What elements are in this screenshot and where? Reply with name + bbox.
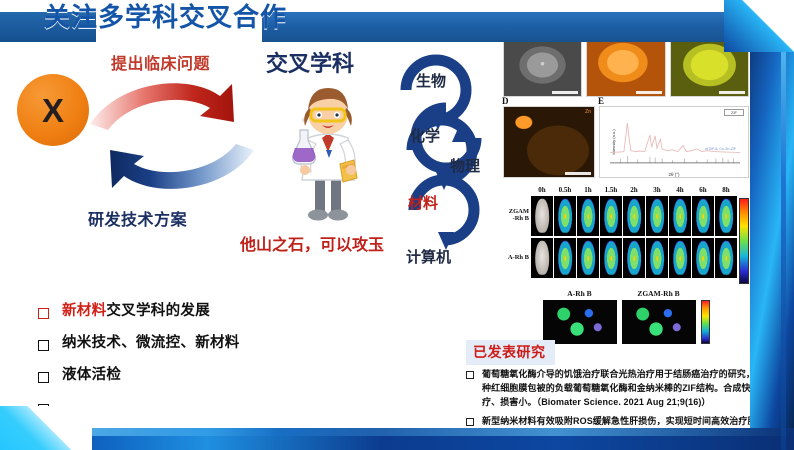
mouse-image bbox=[715, 238, 737, 278]
xrd-annotation: of ZIF-8, Cu-Zn-ZIF bbox=[705, 147, 736, 151]
mouse-image bbox=[577, 238, 599, 278]
organ-image bbox=[622, 300, 696, 344]
timepoint-label: 0h bbox=[531, 186, 553, 194]
mouse-image bbox=[692, 238, 714, 278]
xrd-chart: Intensity (a.u.) ZIF bbox=[599, 106, 749, 178]
bullet-text: 交叉学科的发展 bbox=[106, 303, 210, 319]
cross-discipline-heading: 交叉学科 bbox=[266, 46, 354, 78]
xrd-xlabel: 2θ (°) bbox=[600, 172, 748, 177]
mouse-image bbox=[669, 196, 691, 236]
mouse-image bbox=[623, 238, 645, 278]
arrow-label-clinical-question: 提出临床问题 bbox=[111, 50, 210, 74]
mouse-image bbox=[531, 238, 553, 278]
top-right-corner-decoration bbox=[724, 0, 794, 52]
sem-panel-row: A B C bbox=[503, 33, 749, 97]
bullet-square-icon bbox=[466, 371, 474, 379]
timepoint-label: 8h bbox=[715, 186, 737, 194]
timepoint-label: 1h bbox=[577, 186, 599, 194]
mouse-image bbox=[715, 196, 737, 236]
arrow-label-tech-solution: 研发技术方案 bbox=[88, 206, 187, 230]
timepoint-label: 3h bbox=[646, 186, 668, 194]
timepoint-label: 1.5h bbox=[600, 186, 622, 194]
list-item: 纳米技术、微流控、新材料 bbox=[38, 336, 240, 351]
panel-label-e: E bbox=[598, 96, 604, 106]
bullet-square-icon bbox=[466, 418, 474, 426]
bottom-left-corner-decoration bbox=[0, 406, 92, 450]
figure-panel-d: D Zn bbox=[503, 106, 595, 178]
scale-bar bbox=[636, 91, 662, 94]
scale-bar bbox=[552, 91, 578, 94]
exvivo-panel-a: A-Rh B bbox=[543, 289, 617, 344]
chain-node-physics: 物理 bbox=[450, 155, 480, 176]
mouse-image bbox=[600, 238, 622, 278]
invivo-imaging-figure: 0h 0.5h 1h 1.5h 2h 3h 4h 6h 8h ZGAM -Rh … bbox=[503, 186, 749, 284]
chain-node-chemistry: 化学 bbox=[410, 125, 440, 146]
timepoint-row: 0h 0.5h 1h 1.5h 2h 3h 4h 6h 8h bbox=[531, 186, 737, 194]
page-title: 关注多学科交叉合作 bbox=[44, 0, 287, 34]
cycle-arrows-graphic bbox=[82, 66, 262, 206]
scientist-illustration bbox=[282, 78, 374, 228]
figure-panel-b: B bbox=[586, 33, 665, 97]
header-right-bar bbox=[262, 12, 760, 42]
slide-canvas: 关注多学科交叉合作 X 提出临床问题 研发技术方案 交叉学科 bbox=[0, 0, 794, 450]
mouse-image bbox=[600, 196, 622, 236]
mouse-image bbox=[692, 196, 714, 236]
bottom-border-sheen bbox=[0, 428, 794, 436]
mouse-image bbox=[669, 238, 691, 278]
scale-bar bbox=[565, 172, 591, 175]
sem-image-a bbox=[503, 33, 582, 97]
invivo-row-1: ZGAM -Rh B bbox=[503, 196, 737, 236]
node-label-x: X bbox=[42, 94, 64, 127]
chain-node-computer: 计算机 bbox=[406, 246, 451, 267]
xrd-trace bbox=[610, 110, 740, 169]
scale-bar bbox=[719, 91, 745, 94]
published-research-heading: 已发表研究 bbox=[466, 340, 555, 365]
mouse-image bbox=[577, 196, 599, 236]
timepoint-label: 2h bbox=[623, 186, 645, 194]
timepoint-label: 0.5h bbox=[554, 186, 576, 194]
exvivo-label: A-Rh B bbox=[543, 289, 617, 298]
exvivo-imaging-figure: A-Rh B ZGAM-Rh B bbox=[503, 289, 749, 344]
bullet-square-icon bbox=[38, 372, 49, 383]
figure-panel-a: A bbox=[503, 33, 582, 97]
sem-image-b bbox=[586, 33, 665, 97]
timepoint-label: 4h bbox=[669, 186, 691, 194]
organ-image bbox=[543, 300, 617, 344]
clinical-problem-node: X bbox=[17, 74, 89, 146]
exvivo-colorbar bbox=[701, 300, 710, 344]
timepoint-label: 6h bbox=[692, 186, 714, 194]
chain-node-biology: 生物 bbox=[416, 70, 446, 91]
list-item: 葡萄糖氧化酶介导的饥饿治疗联合光热治疗用于结肠癌治疗的研究，合成一种红细胞膜包被… bbox=[466, 368, 788, 410]
eds-image-d bbox=[503, 106, 595, 178]
mouse-image bbox=[554, 196, 576, 236]
mouse-image bbox=[554, 238, 576, 278]
right-border-accent bbox=[781, 0, 786, 450]
bullet-text: 纳米技术、微流控、新材料 bbox=[62, 335, 240, 351]
bullet-square-icon bbox=[38, 308, 49, 319]
proverb-text: 他山之石，可以攻玉 bbox=[240, 231, 384, 255]
row-label-zgam-rhb: ZGAM -Rh B bbox=[503, 208, 532, 223]
invivo-row-2: A-Rh B bbox=[503, 238, 737, 278]
list-item: 新材料交叉学科的发展 bbox=[38, 304, 240, 319]
exvivo-label: ZGAM-Rh B bbox=[622, 289, 696, 298]
chain-node-materials: 材料 bbox=[408, 192, 438, 213]
mouse-image bbox=[646, 238, 668, 278]
mouse-image bbox=[531, 196, 553, 236]
figure-panel-e: E Intensity (a.u.) ZIF bbox=[599, 106, 749, 178]
publication-text: 葡萄糖氧化酶介导的饥饿治疗联合光热治疗用于结肠癌治疗的研究，合成一种红细胞膜包被… bbox=[482, 368, 788, 410]
element-label-zn: Zn bbox=[585, 109, 591, 115]
mouse-image bbox=[646, 196, 668, 236]
figure-column: A B C D Zn E bbox=[503, 33, 749, 344]
exvivo-panel-b: ZGAM-Rh B bbox=[622, 289, 696, 344]
bullet-square-icon bbox=[38, 340, 49, 351]
right-border-decoration bbox=[750, 0, 794, 450]
list-item: 液体活检 bbox=[38, 368, 240, 383]
bullet-highlight: 新材料 bbox=[62, 303, 106, 319]
panel-label-d: D bbox=[502, 96, 509, 106]
bullet-text: 液体活检 bbox=[62, 367, 121, 383]
invivo-colorbar bbox=[739, 198, 749, 284]
row-label-a-rhb: A-Rh B bbox=[503, 254, 532, 261]
mouse-image bbox=[623, 196, 645, 236]
panel-row-de: D Zn E Intensity (a.u.) ZIF bbox=[503, 106, 749, 178]
